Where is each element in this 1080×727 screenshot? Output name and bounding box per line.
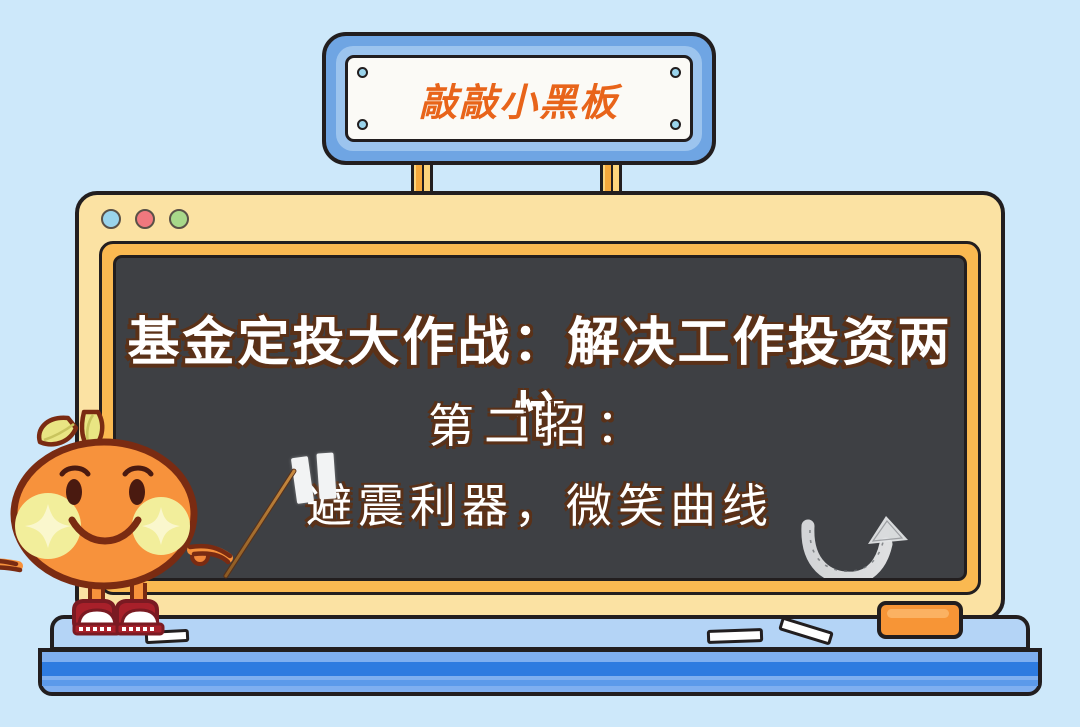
orange-mascot bbox=[0, 398, 256, 648]
dot-green-icon bbox=[169, 209, 189, 229]
dot-red-icon bbox=[135, 209, 155, 229]
eye-right bbox=[129, 479, 145, 505]
dot-blue-icon bbox=[101, 209, 121, 229]
shoe-right bbox=[117, 601, 163, 634]
shoe-left bbox=[74, 601, 120, 634]
sign-plate: 敲敲小黑板 bbox=[345, 55, 693, 142]
smile-curve-doodle-icon bbox=[798, 510, 918, 581]
blackboard-dots bbox=[101, 209, 189, 229]
eye-left bbox=[66, 479, 82, 505]
eraser bbox=[877, 601, 963, 639]
chalk-sticks-doodle-icon bbox=[294, 453, 348, 505]
header-sign: 敲敲小黑板 bbox=[322, 32, 716, 165]
tray-stripe bbox=[42, 662, 1038, 676]
chalk-piece bbox=[707, 628, 763, 644]
poster-canvas: 敲敲小黑板 基金定投大作战：解决工作投资两忙 第二招： 避震利器，微笑曲线 bbox=[0, 0, 1080, 727]
tray-stripe bbox=[42, 680, 1038, 686]
blush-right bbox=[132, 497, 190, 555]
sign-title: 敲敲小黑板 bbox=[348, 71, 690, 126]
chalk-tray-body bbox=[38, 648, 1042, 696]
